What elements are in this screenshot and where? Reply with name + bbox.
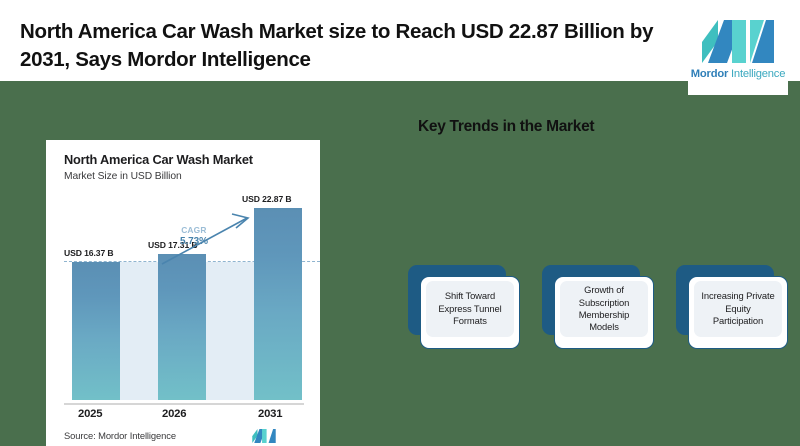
trend-card-3[interactable]: Increasing Private Equity Participation	[676, 265, 788, 349]
chart-xtick-2025: 2025	[78, 408, 102, 420]
page-headline: North America Car Wash Market size to Re…	[20, 18, 670, 75]
brand-word-intelligence: Intelligence	[728, 68, 785, 80]
chart-bar-2026	[158, 254, 206, 400]
trend-card-inner-panel: Shift Toward Express Tunnel Formats	[426, 281, 514, 337]
chart-xtick-2026: 2026	[162, 408, 186, 420]
trend-card-2[interactable]: Growth of Subscription Membership Models	[542, 265, 654, 349]
chart-bar-label-2025: USD 16.37 B	[64, 248, 114, 258]
trend-card-inner-panel: Growth of Subscription Membership Models	[560, 281, 648, 337]
chart-xtick-2031: 2031	[258, 408, 282, 420]
key-trends-title: Key Trends in the Market	[418, 118, 594, 136]
chart-source-row: Source: Mordor Intelligence	[64, 430, 304, 446]
trend-card-text: Growth of Subscription Membership Models	[579, 284, 630, 334]
trend-card-1[interactable]: Shift Toward Express Tunnel Formats	[408, 265, 520, 349]
brand-word-mordor: Mordor	[691, 68, 728, 80]
chart-bar-2031	[254, 208, 302, 400]
chart-bar-label-2031: USD 22.87 B	[242, 194, 292, 204]
chart-plot-area: USD 16.37 B USD 17.31 B USD 22.87 B CAGR…	[64, 196, 304, 400]
chart-subtitle: Market Size in USD Billion	[64, 171, 182, 182]
cagr-annotation: CAGR 5.73%	[180, 226, 208, 248]
chart-band	[120, 262, 158, 400]
trend-card-text: Increasing Private Equity Participation	[701, 290, 774, 327]
mordor-logo-icon	[702, 20, 774, 63]
mordor-logo-icon-small	[252, 429, 276, 443]
chart-source-text: Source: Mordor Intelligence	[64, 430, 176, 441]
chart-bar-2025	[72, 262, 120, 400]
market-size-chart-card: North America Car Wash Market Market Siz…	[46, 140, 320, 446]
chart-title: North America Car Wash Market	[64, 152, 253, 167]
cagr-label: CAGR	[180, 226, 208, 236]
brand-logo: Mordor Intelligence	[688, 4, 788, 95]
trend-card-text: Shift Toward Express Tunnel Formats	[438, 290, 501, 327]
chart-x-axis	[64, 403, 304, 405]
cagr-value: 5.73%	[180, 236, 208, 248]
brand-logo-wordmark: Mordor Intelligence	[691, 68, 785, 80]
trend-card-inner-panel: Increasing Private Equity Participation	[694, 281, 782, 337]
